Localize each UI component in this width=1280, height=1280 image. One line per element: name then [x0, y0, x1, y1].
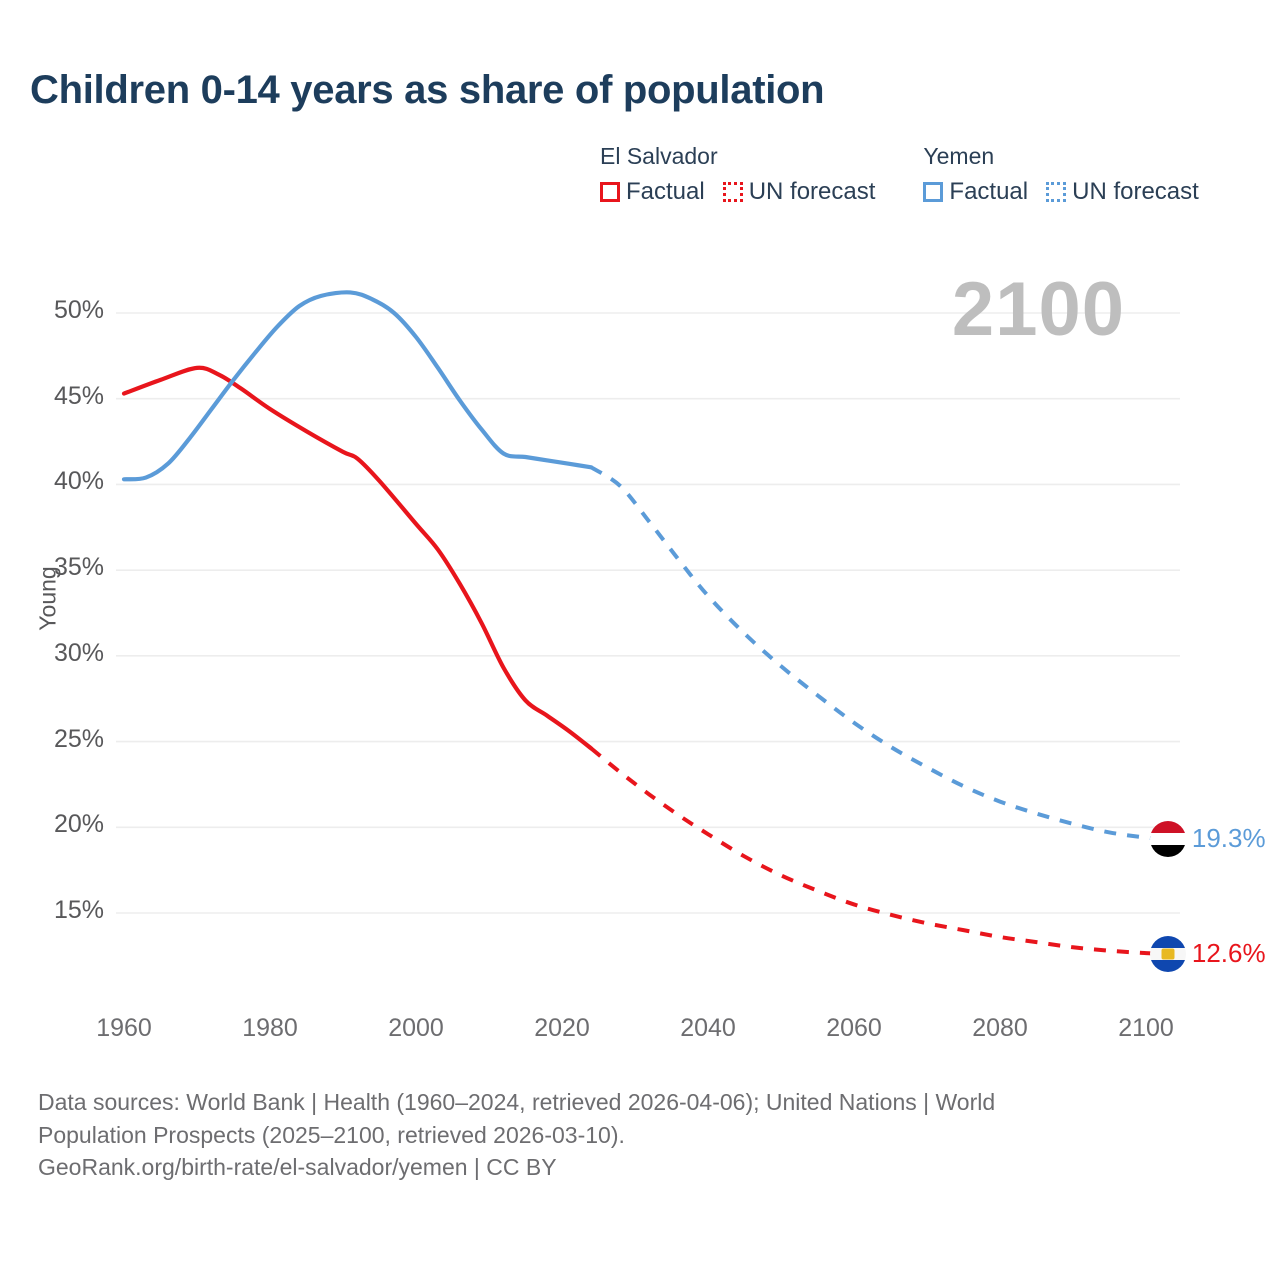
el-salvador-flag-icon	[1150, 936, 1186, 972]
y-tick-15: 15%	[14, 896, 104, 925]
yemen-flag-icon	[1150, 821, 1186, 857]
y-tick-20: 20%	[14, 810, 104, 839]
footer-line-3: GeoRank.org/birth-rate/el-salvador/yemen…	[38, 1151, 1248, 1184]
footer-line-1: Data sources: World Bank | Health (1960–…	[38, 1086, 1248, 1119]
series-line-yemen-forecast	[591, 467, 1168, 839]
chart-series	[124, 292, 1168, 954]
y-tick-50: 50%	[14, 296, 104, 325]
series-line-el-salvador-factual	[124, 368, 591, 749]
x-tick-2040: 2040	[658, 1014, 758, 1043]
x-tick-2020: 2020	[512, 1014, 612, 1043]
y-tick-35: 35%	[14, 553, 104, 582]
x-tick-2080: 2080	[950, 1014, 1050, 1043]
end-label-el-salvador: 12.6%	[1192, 938, 1266, 969]
y-tick-45: 45%	[14, 382, 104, 411]
year-watermark: 2100	[952, 272, 1125, 348]
end-label-yemen: 19.3%	[1192, 823, 1266, 854]
x-tick-2000: 2000	[366, 1014, 466, 1043]
chart-svg	[0, 0, 1280, 1060]
series-line-el-salvador-forecast	[591, 748, 1168, 954]
y-tick-30: 30%	[14, 639, 104, 668]
x-tick-1960: 1960	[74, 1014, 174, 1043]
chart-gridlines	[116, 313, 1180, 913]
footer-sources: Data sources: World Bank | Health (1960–…	[38, 1086, 1248, 1184]
y-tick-25: 25%	[14, 725, 104, 754]
series-line-yemen-factual	[124, 292, 591, 479]
x-tick-2060: 2060	[804, 1014, 904, 1043]
chart-plot-area: 2100 Young 15%20%25%30%35%40%45%50% 1960…	[0, 0, 1280, 1060]
x-tick-1980: 1980	[220, 1014, 320, 1043]
y-tick-40: 40%	[14, 467, 104, 496]
footer-line-2: Population Prospects (2025–2100, retriev…	[38, 1119, 1248, 1152]
x-tick-2100: 2100	[1096, 1014, 1196, 1043]
